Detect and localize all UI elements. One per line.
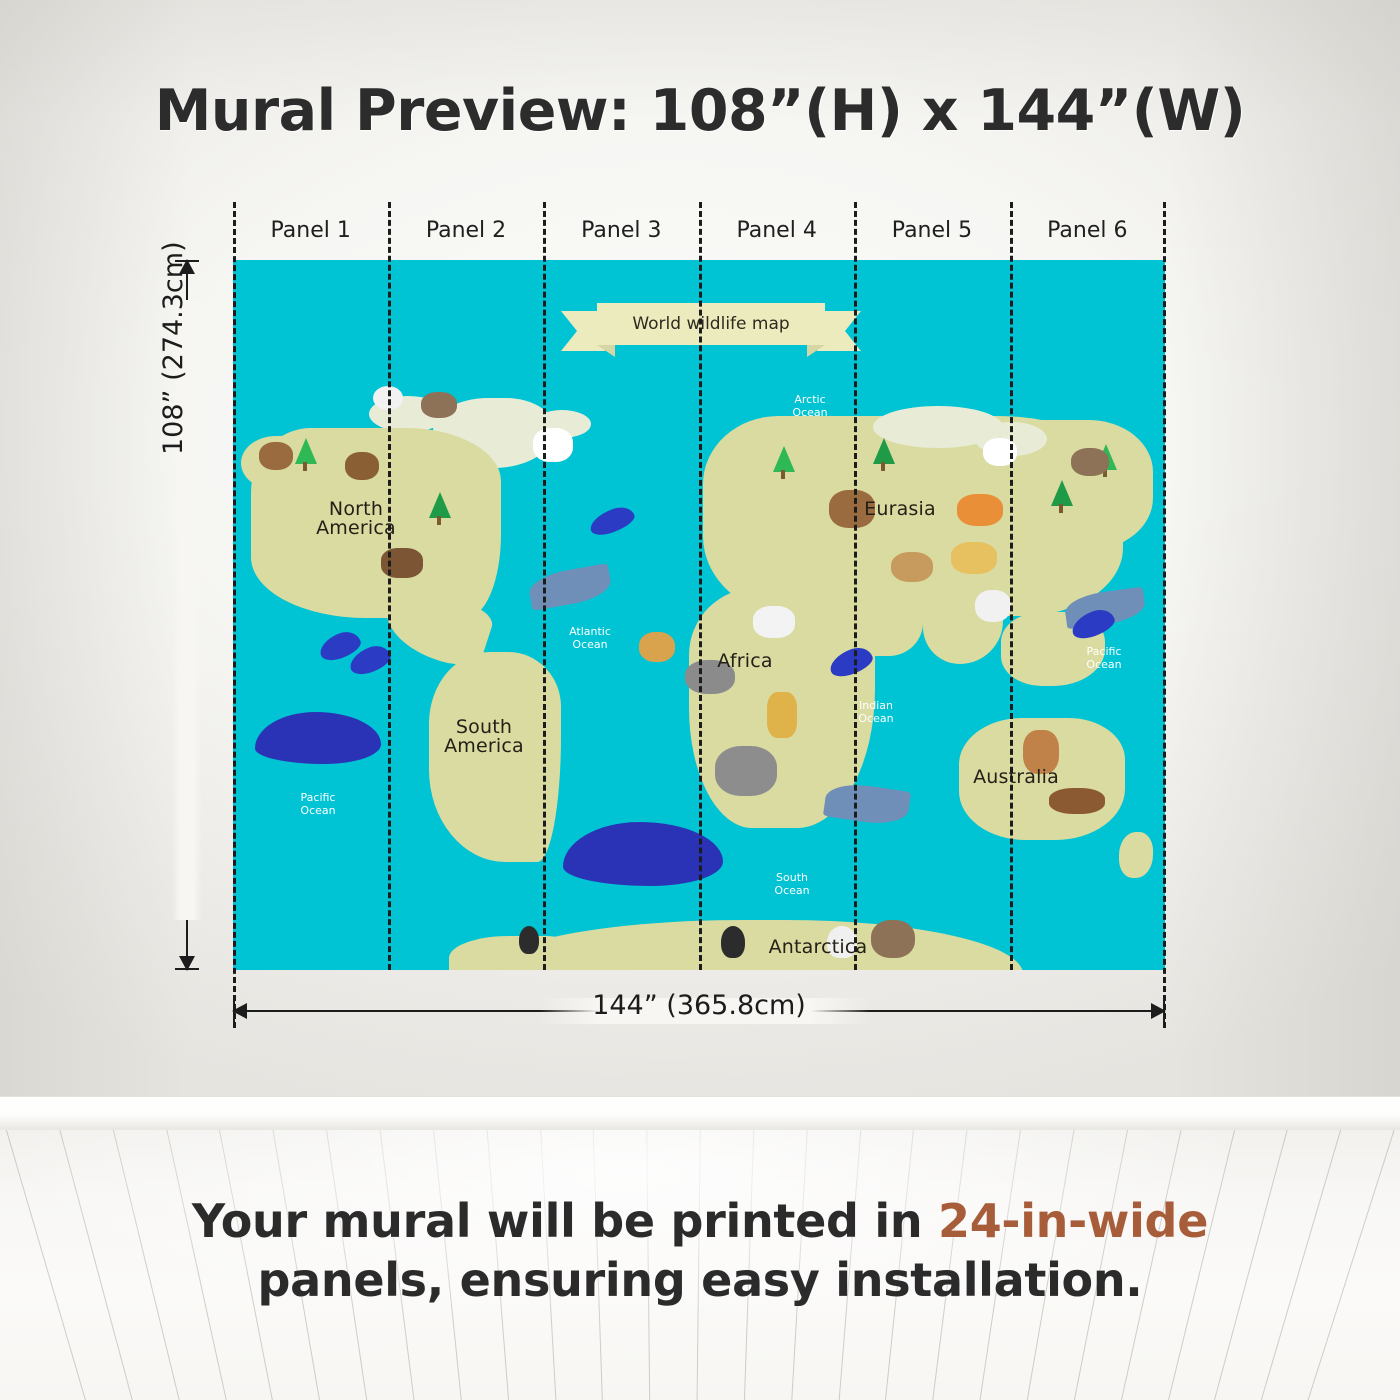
panel-label-4: Panel 4	[699, 214, 854, 248]
panel-label-1: Panel 1	[233, 214, 388, 248]
tree-icon	[295, 438, 317, 464]
ocean-label-pacific-west: Pacific Ocean	[283, 792, 353, 817]
continent-label-africa: Africa	[695, 652, 795, 671]
land-south-america	[429, 652, 561, 862]
wall-right-shadow	[1170, 0, 1400, 1096]
caption-line-2: panels, ensuring easy installation.	[0, 1251, 1400, 1310]
walrus-icon	[1071, 448, 1109, 476]
land-antarctica-west	[449, 936, 569, 970]
panel-label-6: Panel 6	[1010, 214, 1165, 248]
panel-divider-left-edge	[233, 202, 236, 1028]
tree-trunk	[1059, 504, 1063, 513]
penguin-icon	[519, 926, 539, 954]
tree-icon	[873, 438, 895, 464]
shark-icon	[527, 563, 614, 611]
height-arrow-down-icon	[179, 956, 195, 971]
panel-divider-3	[699, 202, 702, 970]
mural-preview-page: Mural Preview: 108”(H) x 144”(W) Panel 1…	[0, 0, 1400, 1400]
panel-label-2: Panel 2	[388, 214, 543, 248]
width-dimension-label: 144” (365.8cm)	[233, 990, 1165, 1021]
panel-divider-5	[1010, 202, 1013, 970]
whale-icon	[255, 712, 381, 764]
lion-icon	[639, 632, 675, 662]
banner-title: World wildlife map	[597, 303, 825, 345]
page-title: Mural Preview: 108”(H) x 144”(W)	[0, 78, 1400, 144]
ocean-label-indian: Indian Ocean	[841, 700, 911, 725]
continent-label-antarctica: Antarctica	[753, 938, 883, 957]
continent-label-eurasia: Eurasia	[845, 500, 955, 519]
ocean-label-south: South Ocean	[757, 872, 827, 897]
tree-trunk	[437, 516, 441, 525]
baseboard	[0, 1096, 1400, 1130]
elephant-icon	[715, 746, 777, 796]
land-new-zealand	[1119, 832, 1153, 878]
tree-icon	[429, 492, 451, 518]
width-dimension-text: 144” (365.8cm)	[570, 990, 828, 1021]
ocean-label-pacific-east: Pacific Ocean	[1069, 646, 1139, 671]
caption-line-1-before: Your mural will be printed in	[192, 1194, 938, 1248]
tree-trunk	[303, 462, 307, 471]
tree-trunk	[881, 462, 885, 471]
panel-divider-right-edge	[1163, 202, 1166, 1028]
polar-bear-icon	[533, 428, 573, 462]
tiger-icon	[957, 494, 1003, 526]
tree-icon	[773, 446, 795, 472]
banner-fold-right	[807, 345, 825, 357]
caption: Your mural will be printed in 24-in-wide…	[0, 1192, 1400, 1310]
panel-label-5: Panel 5	[854, 214, 1009, 248]
ocean-label-atlantic: Atlantic Ocean	[555, 626, 625, 651]
height-dimension-label: 108” (274.3cm)	[158, 241, 189, 455]
caption-line-1: Your mural will be printed in 24-in-wide	[0, 1192, 1400, 1251]
banner-fold-left	[597, 345, 615, 357]
platypus-icon	[1049, 788, 1105, 814]
camel-icon	[891, 552, 933, 582]
continent-label-australia: Australia	[961, 768, 1071, 787]
tree-icon	[1051, 480, 1073, 506]
leopard-icon	[951, 542, 997, 574]
zebra-icon	[753, 606, 795, 638]
giraffe-icon	[767, 692, 797, 738]
ocean-label-arctic: Arctic Ocean	[775, 394, 845, 419]
walrus-icon	[421, 392, 457, 418]
moose-icon	[345, 452, 379, 480]
panel-label-3: Panel 3	[544, 214, 699, 248]
tree-trunk	[781, 470, 785, 479]
dolphin-icon	[587, 503, 638, 539]
panel-divider-4	[854, 202, 857, 970]
panda-icon	[975, 590, 1011, 622]
continent-label-south-america: South America	[429, 718, 539, 756]
continent-label-north-america: North America	[301, 500, 411, 538]
wall-left-shadow	[0, 0, 190, 1096]
panel-divider-2	[543, 202, 546, 970]
caption-accent: 24-in-wide	[938, 1194, 1208, 1248]
map-banner: World wildlife map	[561, 303, 861, 355]
penguin-icon	[721, 926, 745, 958]
shark-icon	[823, 780, 911, 827]
panel-divider-1	[388, 202, 391, 970]
bear-icon	[259, 442, 293, 470]
